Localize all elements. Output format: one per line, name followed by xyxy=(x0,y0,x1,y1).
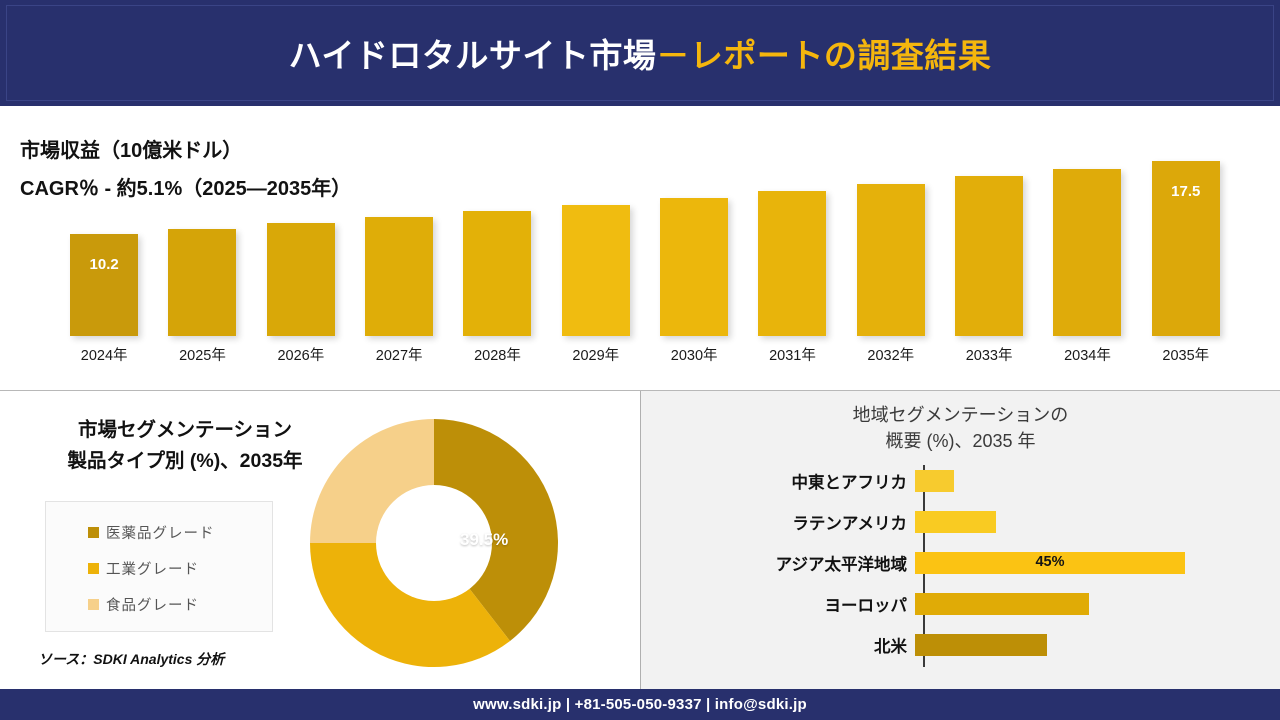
revenue-year-label: 2024年 xyxy=(55,342,153,370)
revenue-bar-chart: 10.217.5 2024年2025年2026年2027年2028年2029年2… xyxy=(55,126,1235,378)
revenue-bars-row: 10.217.5 xyxy=(55,136,1235,336)
region-bar-area xyxy=(915,584,1280,624)
region-row: 中東とアフリカ xyxy=(641,461,1280,501)
region-title-line2: 概要 (%)、2035 年 xyxy=(641,428,1280,454)
region-row: アジア太平洋地域45% xyxy=(641,543,1280,583)
revenue-bar xyxy=(365,217,433,336)
revenue-year-label: 2026年 xyxy=(252,342,350,370)
region-bar-area xyxy=(915,502,1280,542)
region-bar-area xyxy=(915,625,1280,665)
page-title-main: ハイドロタルサイト市場 xyxy=(289,29,657,77)
region-bar xyxy=(915,511,996,533)
revenue-bar xyxy=(857,184,925,336)
revenue-year-label: 2029年 xyxy=(547,342,645,370)
revenue-year-label: 2031年 xyxy=(743,342,841,370)
revenue-bar xyxy=(168,229,236,336)
donut-title: 市場セグメンテーション 製品タイプ別 (%)、2035年 xyxy=(30,415,340,477)
revenue-bar xyxy=(463,211,531,336)
region-row: ヨーロッパ xyxy=(641,584,1280,624)
region-category-label: ヨーロッパ xyxy=(641,592,915,616)
revenue-bar-value-label: 10.2 xyxy=(70,256,138,273)
footer-banner: www.sdki.jp | +81-505-050-9337 | info@sd… xyxy=(0,689,1280,720)
region-bar-chart: 中東とアフリカラテンアメリカアジア太平洋地域45%ヨーロッパ北米 xyxy=(641,461,1280,673)
revenue-year-label: 2032年 xyxy=(842,342,940,370)
infographic-page: ハイドロタルサイト市場 －レポートの調査結果 市場収益（10億米ドル） CAGR… xyxy=(0,0,1280,720)
legend-item-label: 医薬品グレード xyxy=(106,522,215,543)
region-bar xyxy=(915,634,1047,656)
region-category-label: アジア太平洋地域 xyxy=(641,551,915,575)
region-title: 地域セグメンテーションの 概要 (%)、2035 年 xyxy=(641,402,1280,454)
revenue-year-label: 2034年 xyxy=(1038,342,1136,370)
revenue-bar-cell: 17.5 xyxy=(1137,136,1235,336)
page-title-accent: －レポートの調査結果 xyxy=(656,29,991,77)
source-note: ソース：SDKI Analytics 分析 xyxy=(38,649,224,669)
revenue-bar xyxy=(955,176,1023,336)
revenue-year-label: 2030年 xyxy=(645,342,743,370)
product-segmentation-panel: 市場セグメンテーション 製品タイプ別 (%)、2035年 医薬品グレード工業グレ… xyxy=(0,391,640,689)
region-bar-area: 45% xyxy=(915,543,1280,583)
region-bar-value-label: 45% xyxy=(915,554,1185,570)
donut-title-line2: 製品タイプ別 (%)、2035年 xyxy=(30,446,340,477)
revenue-bar-cell xyxy=(547,136,645,336)
legend-swatch-icon xyxy=(88,599,99,610)
header-inner-frame: ハイドロタルサイト市場 －レポートの調査結果 xyxy=(6,5,1274,101)
header-banner: ハイドロタルサイト市場 －レポートの調査結果 xyxy=(0,0,1280,106)
revenue-year-labels-row: 2024年2025年2026年2027年2028年2029年2030年2031年… xyxy=(55,342,1235,370)
revenue-year-label: 2025年 xyxy=(153,342,251,370)
revenue-bar: 17.5 xyxy=(1152,161,1220,336)
revenue-bar-cell xyxy=(940,136,1038,336)
revenue-bar: 10.2 xyxy=(70,234,138,336)
legend-item-label: 工業グレード xyxy=(106,558,199,579)
revenue-year-label: 2033年 xyxy=(940,342,1038,370)
legend-item: 工業グレード xyxy=(46,550,272,586)
revenue-year-label: 2028年 xyxy=(448,342,546,370)
legend-swatch-icon xyxy=(88,563,99,574)
legend-item: 食品グレード xyxy=(46,586,272,622)
revenue-bar xyxy=(562,205,630,336)
donut-title-line1: 市場セグメンテーション xyxy=(30,415,340,446)
revenue-bar-cell xyxy=(350,136,448,336)
region-category-label: 中東とアフリカ xyxy=(641,469,915,493)
revenue-bar-cell xyxy=(153,136,251,336)
market-revenue-section: 市場収益（10億米ドル） CAGR％ - 約5.1%（2025―2035年） 1… xyxy=(0,106,1280,390)
revenue-bar-cell xyxy=(842,136,940,336)
legend-item: 医薬品グレード xyxy=(46,514,272,550)
donut-callout-label: 39.5% xyxy=(460,530,508,550)
revenue-bar-cell xyxy=(743,136,841,336)
revenue-bar xyxy=(758,191,826,336)
donut-legend: 医薬品グレード工業グレード食品グレード xyxy=(45,501,273,632)
region-bar-area xyxy=(915,461,1280,501)
revenue-bar-cell: 10.2 xyxy=(55,136,153,336)
revenue-bar xyxy=(267,223,335,336)
region-row: 北米 xyxy=(641,625,1280,665)
regional-segmentation-panel: 地域セグメンテーションの 概要 (%)、2035 年 中東とアフリカラテンアメリ… xyxy=(641,391,1280,689)
revenue-bar-cell xyxy=(252,136,350,336)
region-category-label: 北米 xyxy=(641,633,915,657)
revenue-bar xyxy=(1053,169,1121,336)
revenue-bar xyxy=(660,198,728,336)
revenue-bar-value-label: 17.5 xyxy=(1152,183,1220,200)
footer-contact-text: www.sdki.jp | +81-505-050-9337 | info@sd… xyxy=(473,696,807,713)
region-category-label: ラテンアメリカ xyxy=(641,510,915,534)
revenue-year-label: 2035年 xyxy=(1137,342,1235,370)
donut-svg xyxy=(308,417,560,669)
legend-swatch-icon xyxy=(88,527,99,538)
legend-item-label: 食品グレード xyxy=(106,594,199,615)
revenue-bar-cell xyxy=(1038,136,1136,336)
donut-chart: 39.5% xyxy=(308,417,560,669)
region-title-line1: 地域セグメンテーションの xyxy=(641,402,1280,428)
region-bar xyxy=(915,470,954,492)
revenue-bar-cell xyxy=(645,136,743,336)
revenue-year-label: 2027年 xyxy=(350,342,448,370)
region-row: ラテンアメリカ xyxy=(641,502,1280,542)
revenue-bar-cell xyxy=(448,136,546,336)
region-bar xyxy=(915,593,1089,615)
region-bar: 45% xyxy=(915,552,1185,574)
